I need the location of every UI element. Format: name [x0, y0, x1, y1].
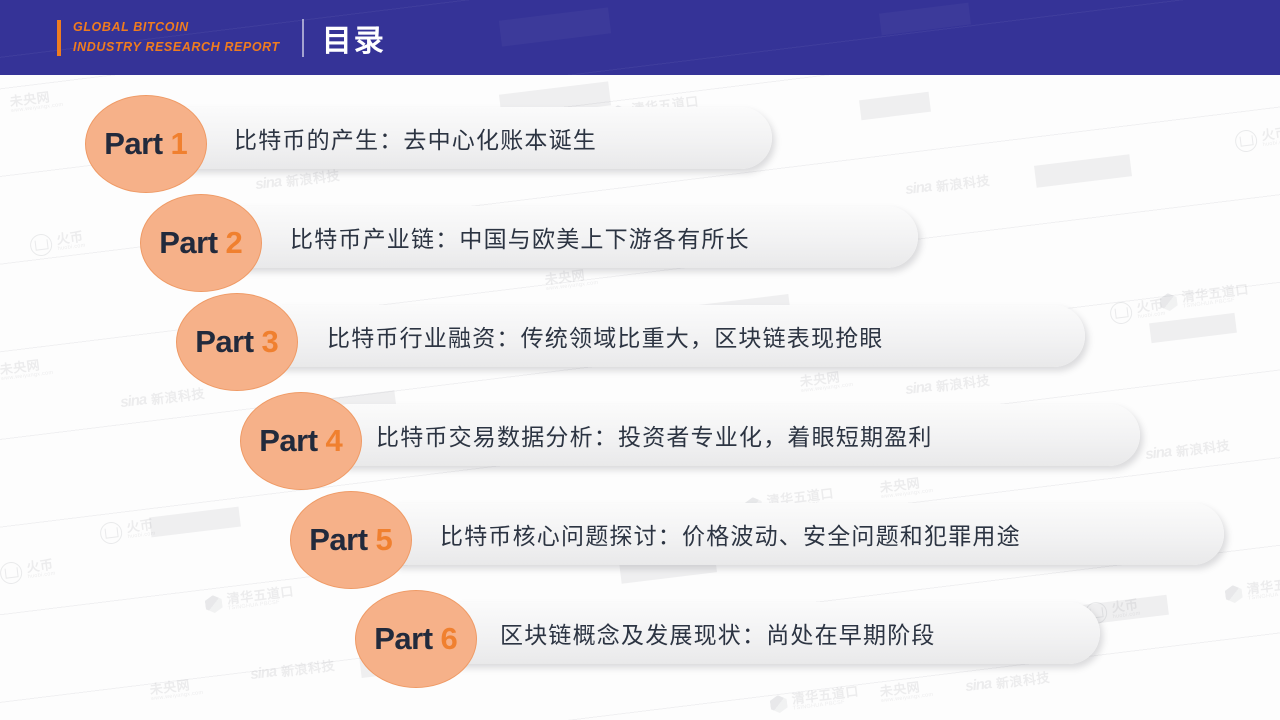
toc-part-word: Part	[104, 126, 162, 162]
toc-part-number: 5	[376, 522, 393, 558]
table-of-contents: 比特币的产生：去中心化账本诞生 Part 1 比特币产业链：中国与欧美上下游各有…	[0, 75, 1280, 720]
toc-bubble[interactable]: Part 1	[85, 95, 207, 193]
toc-pill[interactable]: 比特币产业链：中国与欧美上下游各有所长	[198, 206, 918, 268]
toc-item-title: 区块链概念及发展现状：尚处在早期阶段	[500, 616, 936, 650]
slide-root: 未央网 www.weiyangx.com sina 新浪科技 清华五道口 TSI…	[0, 0, 1280, 720]
brand-line-1: GLOBAL BITCOIN	[73, 18, 280, 37]
toc-part-word: Part	[159, 225, 217, 261]
toc-item-title: 比特币核心问题探讨：价格波动、安全问题和犯罪用途	[440, 517, 1021, 551]
toc-part-number: 6	[441, 621, 458, 657]
toc-pill[interactable]: 比特币的产生：去中心化账本诞生	[142, 107, 772, 169]
toc-part-number: 1	[171, 126, 188, 162]
toc-pill[interactable]: 比特币交易数据分析：投资者专业化，着眼短期盈利	[318, 404, 1140, 466]
toc-pill[interactable]: 比特币行业融资：传统领域比重大，区块链表现抢眼	[255, 305, 1085, 367]
toc-bubble[interactable]: Part 2	[140, 194, 262, 292]
toc-part-number: 3	[262, 324, 279, 360]
toc-part-word: Part	[309, 522, 367, 558]
toc-item-title: 比特币行业融资：传统领域比重大，区块链表现抢眼	[327, 319, 884, 353]
toc-part-word: Part	[374, 621, 432, 657]
brand-line-2: INDUSTRY RESEARCH REPORT	[73, 38, 280, 57]
toc-pill[interactable]: 比特币核心问题探讨：价格波动、安全问题和犯罪用途	[372, 503, 1224, 565]
toc-item-title: 比特币产业链：中国与欧美上下游各有所长	[290, 220, 750, 254]
toc-bubble[interactable]: Part 3	[176, 293, 298, 391]
report-brand: GLOBAL BITCOIN INDUSTRY RESEARCH REPORT	[73, 18, 280, 57]
page-title: 目录	[322, 16, 386, 60]
slide-header: GLOBAL BITCOIN INDUSTRY RESEARCH REPORT …	[0, 0, 1280, 75]
toc-part-number: 2	[226, 225, 243, 261]
header-accent-bar	[57, 20, 61, 56]
toc-part-word: Part	[195, 324, 253, 360]
toc-part-word: Part	[259, 423, 317, 459]
header-divider	[302, 19, 304, 57]
toc-item-title: 比特币交易数据分析：投资者专业化，着眼短期盈利	[376, 418, 933, 452]
header-content: GLOBAL BITCOIN INDUSTRY RESEARCH REPORT …	[57, 0, 386, 75]
toc-pill[interactable]: 区块链概念及发展现状：尚处在早期阶段	[432, 602, 1100, 664]
toc-bubble[interactable]: Part 6	[355, 590, 477, 688]
toc-item-title: 比特币的产生：去中心化账本诞生	[234, 121, 597, 155]
toc-bubble[interactable]: Part 5	[290, 491, 412, 589]
toc-part-number: 4	[326, 423, 343, 459]
toc-bubble[interactable]: Part 4	[240, 392, 362, 490]
